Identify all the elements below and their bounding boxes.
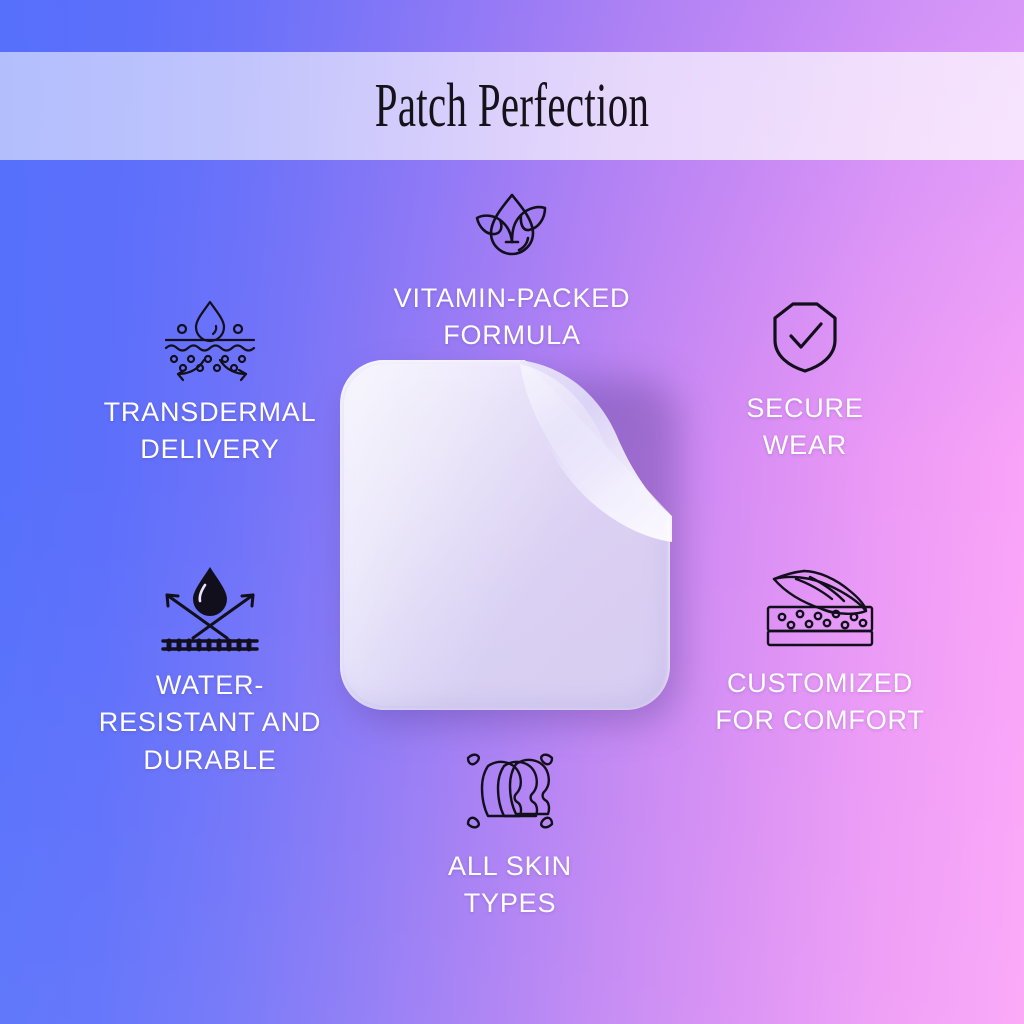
feather-on-mattress-icon bbox=[760, 565, 880, 649]
feature-vitamin-packed-formula: VITAMIN-PACKED FORMULA bbox=[312, 190, 712, 355]
feature-secure-wear: SECURE WEAR bbox=[665, 300, 945, 465]
feature-transdermal-delivery: TRANSDERMAL DELIVERY bbox=[60, 298, 360, 469]
feature-label: TRANSDERMAL DELIVERY bbox=[104, 394, 317, 469]
water-repellent-droplet-arrows-icon bbox=[155, 565, 265, 651]
feature-label: WATER- RESISTANT AND DURABLE bbox=[99, 667, 321, 779]
droplet-leaves-icon bbox=[473, 190, 551, 264]
feature-all-skin-types: ALL SKIN TYPES bbox=[360, 750, 660, 923]
droplet-skin-layers-icon bbox=[158, 298, 262, 378]
three-head-profiles-icon bbox=[464, 750, 556, 832]
feature-water-resistant-durable: WATER- RESISTANT AND DURABLE bbox=[55, 565, 365, 779]
feature-label: ALL SKIN TYPES bbox=[448, 848, 572, 923]
feature-label: VITAMIN-PACKED FORMULA bbox=[394, 280, 631, 355]
feature-label: CUSTOMIZED FOR COMFORT bbox=[715, 665, 924, 740]
title-banner: Patch Perfection bbox=[0, 52, 1024, 160]
infographic-canvas: Patch Perfection VITAMIN-PACKED FORMULA bbox=[0, 0, 1024, 1024]
page-title: Patch Perfection bbox=[375, 75, 650, 137]
feature-customized-for-comfort: CUSTOMIZED FOR COMFORT bbox=[670, 565, 970, 740]
feature-label: SECURE WEAR bbox=[746, 390, 863, 465]
product-patch bbox=[340, 360, 690, 730]
shield-check-icon bbox=[771, 300, 839, 374]
